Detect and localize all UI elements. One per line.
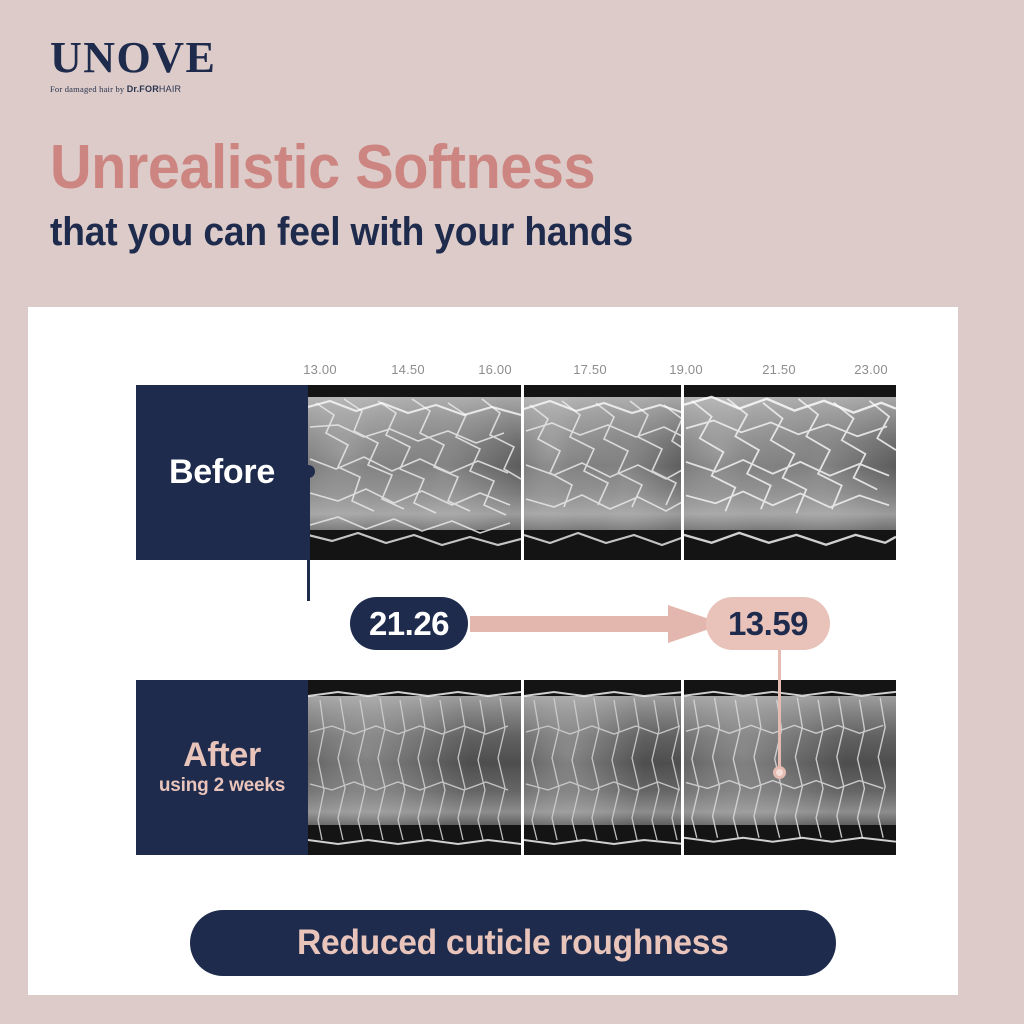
sem-panel xyxy=(681,680,896,855)
sem-panel xyxy=(681,385,896,560)
axis-tick: 16.00 xyxy=(478,362,512,377)
axis-tick: 13.00 xyxy=(303,362,337,377)
sem-panel xyxy=(308,385,521,560)
before-label-block: Before xyxy=(136,385,308,560)
after-leader-line xyxy=(778,650,781,772)
headline: Unrealistic Softness that you can feel w… xyxy=(50,136,950,253)
roughness-axis: 13.00 14.50 16.00 17.50 19.00 21.50 23.0… xyxy=(28,362,958,382)
after-sem-strip xyxy=(308,680,896,855)
brand-logo: UNOVE For damaged hair by Dr.FORHAIR xyxy=(50,36,310,94)
before-sem-strip xyxy=(308,385,896,560)
axis-tick: 14.50 xyxy=(391,362,425,377)
axis-tick: 17.50 xyxy=(573,362,607,377)
before-leader-line xyxy=(307,471,310,601)
sem-panel xyxy=(521,680,684,855)
headline-primary: Unrealistic Softness xyxy=(50,136,887,199)
cuticle-texture-icon xyxy=(524,385,684,560)
footer-banner: Reduced cuticle roughness xyxy=(190,910,836,976)
sem-panel xyxy=(521,385,684,560)
before-value-pill: 21.26 xyxy=(350,597,468,650)
axis-tick: 21.50 xyxy=(762,362,796,377)
after-marker-dot xyxy=(773,766,786,779)
before-label: Before xyxy=(169,455,275,491)
footer-banner-text: Reduced cuticle roughness xyxy=(297,923,729,963)
after-label-subtitle: using 2 weeks xyxy=(159,775,285,797)
brand-tagline-light: HAIR xyxy=(159,84,181,94)
cuticle-texture-icon xyxy=(524,680,684,855)
cuticle-texture-icon xyxy=(308,680,521,855)
comparison-card: 13.00 14.50 16.00 17.50 19.00 21.50 23.0… xyxy=(28,307,958,995)
sem-panel xyxy=(308,680,521,855)
brand-tagline-bold: Dr.FOR xyxy=(127,84,159,94)
cuticle-texture-icon xyxy=(684,385,896,558)
improvement-arrow-icon xyxy=(470,605,724,643)
cuticle-texture-icon xyxy=(684,680,896,853)
cuticle-texture-icon xyxy=(308,385,521,560)
before-row: Before xyxy=(136,385,896,560)
brand-tagline: For damaged hair by Dr.FORHAIR xyxy=(50,84,310,94)
brand-name: UNOVE xyxy=(50,36,310,80)
after-label-block: After using 2 weeks xyxy=(136,680,308,855)
brand-tagline-prefix: For damaged hair by xyxy=(50,84,127,94)
after-label: After xyxy=(183,738,261,774)
axis-tick: 23.00 xyxy=(854,362,888,377)
headline-secondary: that you can feel with your hands xyxy=(50,211,887,253)
before-marker-dot xyxy=(302,465,315,478)
after-value: 13.59 xyxy=(728,605,808,643)
before-value: 21.26 xyxy=(369,605,449,643)
after-value-pill: 13.59 xyxy=(706,597,830,650)
axis-tick: 19.00 xyxy=(669,362,703,377)
